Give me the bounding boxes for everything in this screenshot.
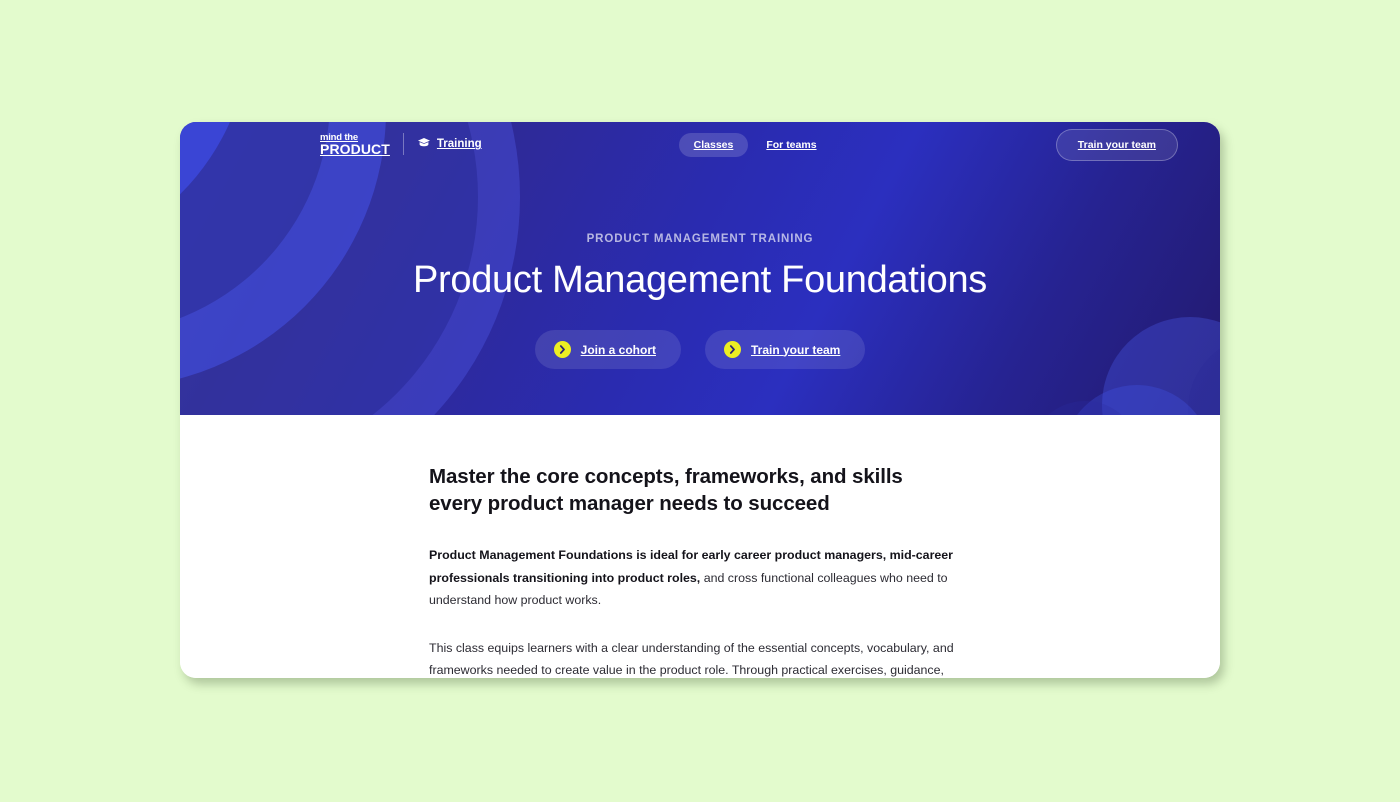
page-title: Product Management Foundations [180, 259, 1220, 302]
hero-arc-decoration [1062, 385, 1212, 415]
hero-section: mind the PRODUCT Training [180, 122, 1220, 415]
brand-group: mind the PRODUCT Training [320, 133, 482, 157]
logo-mind-the-product[interactable]: mind the PRODUCT [320, 133, 390, 157]
join-a-cohort-button[interactable]: Join a cohort [535, 330, 681, 369]
hero-cta-group: Join a cohort Train your team [180, 330, 1220, 369]
intro-paragraph: Product Management Foundations is ideal … [429, 544, 960, 612]
top-navigation: mind the PRODUCT Training [180, 122, 1220, 167]
hero-arc-decoration [1030, 401, 1140, 415]
page-card: mind the PRODUCT Training [180, 122, 1220, 678]
nav-item-classes[interactable]: Classes [679, 133, 749, 157]
content-column: Master the core concepts, frameworks, an… [429, 463, 960, 678]
main-content: Master the core concepts, frameworks, an… [180, 415, 1220, 678]
hero-eyebrow: PRODUCT MANAGEMENT TRAINING [180, 233, 1220, 245]
nav-links: Classes For teams [679, 133, 825, 157]
body-paragraph: This class equips learners with a clear … [429, 637, 960, 678]
nav-train-your-team-button[interactable]: Train your team [1056, 129, 1178, 161]
section-heading: Master the core concepts, frameworks, an… [429, 463, 960, 517]
training-link[interactable]: Training [417, 137, 482, 151]
train-your-team-button[interactable]: Train your team [705, 330, 865, 369]
chevron-right-icon [724, 341, 741, 358]
brand-divider [403, 133, 404, 155]
training-label: Training [437, 138, 482, 150]
graduation-cap-icon [417, 137, 431, 151]
train-your-team-label: Train your team [751, 343, 840, 357]
logo-line-2: PRODUCT [320, 142, 390, 156]
chevron-right-icon [554, 341, 571, 358]
nav-item-for-teams[interactable]: For teams [758, 133, 824, 157]
hero-content: PRODUCT MANAGEMENT TRAINING Product Mana… [180, 167, 1220, 369]
join-a-cohort-label: Join a cohort [581, 343, 656, 357]
page-stage: mind the PRODUCT Training [0, 0, 1400, 802]
